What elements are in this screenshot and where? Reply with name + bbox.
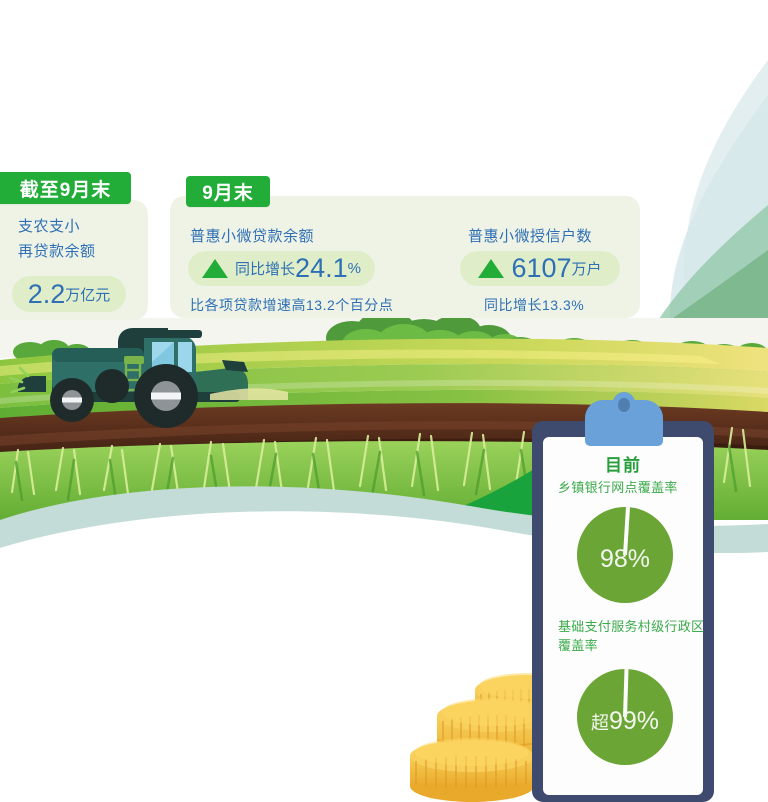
chart-a-value: 98% (577, 507, 673, 603)
metric-a-pill-number: 24.1 (295, 253, 348, 284)
card-left-caption-line1: 支农支小 (18, 216, 80, 237)
chart-b-value: 超99% (577, 669, 673, 765)
triangle-up-icon (478, 259, 504, 278)
clipboard-title: 目前 (543, 451, 703, 476)
metric-b-pill-number: 6107 (511, 253, 571, 284)
metric-b-pill-unit: 万户 (572, 258, 602, 279)
metric-a-pill-prefix: 同比增长 (235, 258, 295, 279)
card-left-caption-line2: 再贷款余额 (18, 241, 96, 262)
metric-a-pill: 同比增长 24.1 % (188, 251, 375, 286)
chart-b-value-number: 99% (609, 707, 659, 736)
metric-b-footnote: 同比增长13.3% (484, 295, 584, 316)
triangle-up-icon (202, 259, 228, 278)
metric-a-footnote: 比各项贷款增速高13.2个百分点 (190, 295, 393, 316)
chart-b-pie: 超99% (577, 669, 673, 765)
chart-a-pie: 98% (577, 507, 673, 603)
card-left-value-number: 2.2 (28, 279, 66, 310)
metric-b-pill: 6107 万户 (460, 251, 620, 286)
card-left-badge: 截至9月末 (0, 172, 131, 204)
chart-b-label-line2: 覆盖率 (558, 636, 598, 655)
infographic-canvas: 截至9月末 支农支小 再贷款余额 2.2 万亿元 9月末 普惠小微贷款余额 同比… (0, 0, 768, 802)
card-left-value-pill: 2.2 万亿元 (12, 276, 126, 312)
clipboard-clip-hole-icon (618, 398, 630, 412)
chart-b-label-line1: 基础支付服务村级行政区 (558, 617, 704, 636)
card-left-value-unit: 万亿元 (65, 284, 110, 305)
clipboard-panel: 目前 乡镇银行网点覆盖率 98% 基础支付服务村级行政区 覆盖率 超99% (532, 421, 714, 802)
metric-a-caption: 普惠小微贷款余额 (190, 226, 314, 247)
chart-b-value-prefix: 超 (591, 709, 609, 735)
chart-a-label: 乡镇银行网点覆盖率 (558, 478, 678, 497)
metric-b-caption: 普惠小微授信户数 (468, 226, 592, 247)
card-middle-badge: 9月末 (186, 176, 270, 207)
metric-a-pill-unit: % (348, 260, 361, 277)
